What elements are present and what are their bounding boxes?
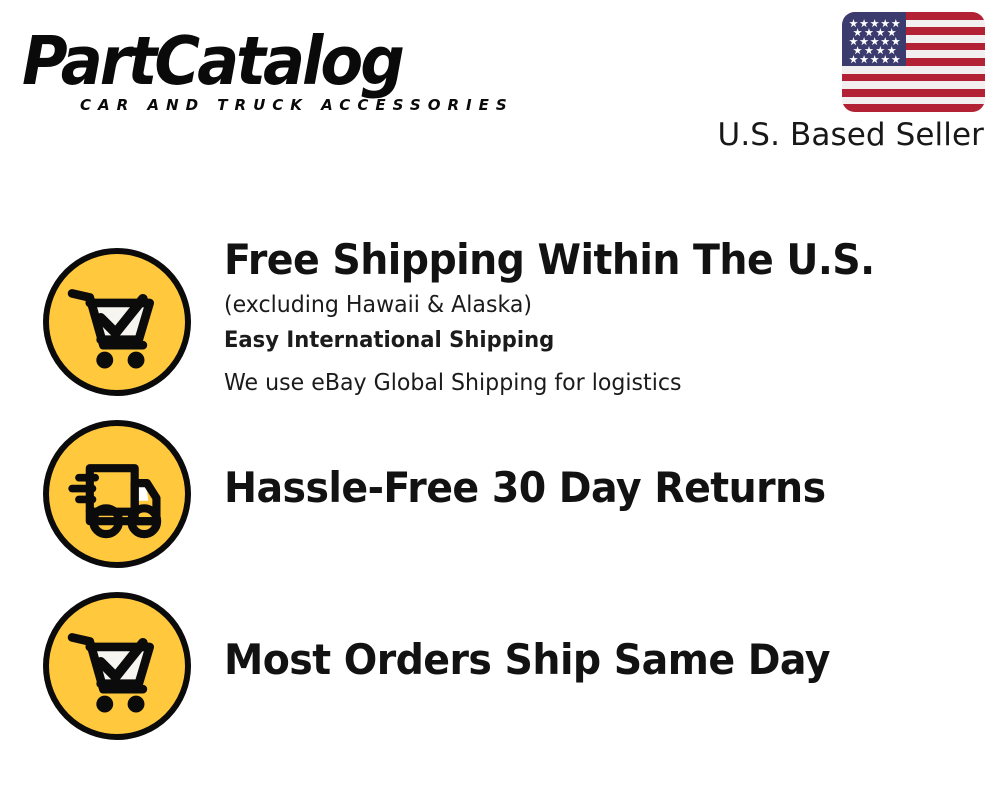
- feature-subtext-bold: Easy International Shipping: [224, 324, 954, 358]
- delivery-truck-icon: [43, 420, 191, 568]
- feature-row: Free Shipping Within The U.S. (excluding…: [0, 232, 1000, 412]
- cart-check-icon: [43, 248, 191, 396]
- feature-heading: Free Shipping Within The U.S.: [224, 236, 938, 284]
- feature-text: Free Shipping Within The U.S. (excluding…: [224, 236, 984, 400]
- feature-row: Most Orders Ship Same Day: [0, 576, 1000, 756]
- feature-heading: Most Orders Ship Same Day: [224, 636, 938, 684]
- feature-text: Hassle-Free 30 Day Returns: [224, 464, 984, 512]
- cart-check-icon: [43, 592, 191, 740]
- feature-text: Most Orders Ship Same Day: [224, 636, 984, 684]
- feature-subtext: We use eBay Global Shipping for logistic…: [224, 366, 954, 400]
- feature-list: Free Shipping Within The U.S. (excluding…: [0, 0, 1000, 800]
- feature-row: Hassle-Free 30 Day Returns: [0, 404, 1000, 584]
- feature-subtext: (excluding Hawaii & Alaska): [224, 288, 954, 322]
- feature-heading: Hassle-Free 30 Day Returns: [224, 464, 938, 512]
